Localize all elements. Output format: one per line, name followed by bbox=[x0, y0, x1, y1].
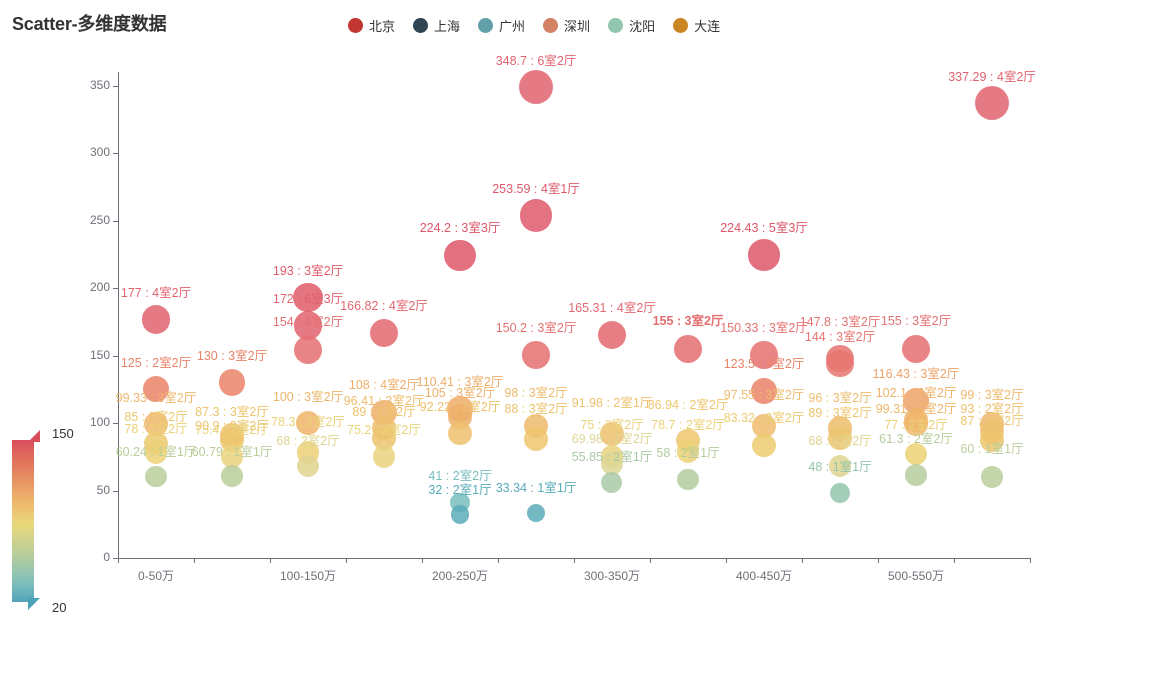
scatter-point[interactable] bbox=[601, 472, 622, 493]
x-axis-tick bbox=[1030, 558, 1031, 563]
y-axis-tick bbox=[113, 153, 118, 154]
scatter-point[interactable] bbox=[293, 283, 323, 313]
scatter-point-label: 130 : 3室2厅 bbox=[160, 345, 304, 364]
scatter-point[interactable] bbox=[980, 429, 1004, 453]
visual-map-max-label: 150 bbox=[52, 426, 74, 441]
visual-map[interactable]: 150 20 bbox=[12, 432, 82, 632]
scatter-point-label: 224.2 : 3室3厅 bbox=[388, 217, 532, 236]
scatter-point[interactable] bbox=[444, 240, 475, 271]
x-axis-label: 0-50万 bbox=[96, 567, 216, 584]
scatter-plot: 0501001502002503003500-50万100-150万200-25… bbox=[0, 0, 1159, 677]
x-axis-tick bbox=[194, 558, 195, 563]
y-axis-label: 150 bbox=[50, 348, 110, 362]
scatter-point-label: 337.29 : 4室2厅 bbox=[920, 66, 1064, 85]
scatter-point[interactable] bbox=[904, 412, 928, 436]
scatter-point[interactable] bbox=[219, 369, 245, 395]
scatter-point-label: 86.94 : 2室2厅 bbox=[616, 394, 760, 413]
scatter-point[interactable] bbox=[981, 466, 1002, 487]
x-axis-tick bbox=[650, 558, 651, 563]
scatter-point[interactable] bbox=[975, 86, 1009, 120]
scatter-point-label: 348.7 : 6室2厅 bbox=[464, 50, 608, 69]
scatter-point[interactable] bbox=[296, 411, 321, 436]
scatter-point[interactable] bbox=[829, 455, 851, 477]
scatter-point-label: 155 : 3室2厅 bbox=[844, 310, 988, 329]
scatter-point-label: 193 : 3室2厅 bbox=[236, 260, 380, 279]
scatter-point[interactable] bbox=[905, 464, 927, 486]
x-axis-label: 100-150万 bbox=[248, 567, 368, 584]
scatter-point-label: 33.34 : 1室1厅 bbox=[464, 477, 608, 496]
scatter-point-label: 96 : 3室2厅 bbox=[768, 387, 912, 406]
scatter-point-label: 110.41 : 3室2厅 bbox=[388, 371, 532, 390]
y-axis-label: 300 bbox=[50, 145, 110, 159]
scatter-point[interactable] bbox=[519, 70, 553, 104]
y-axis-tick bbox=[113, 86, 118, 87]
scatter-point[interactable] bbox=[905, 443, 928, 466]
scatter-point[interactable] bbox=[752, 434, 775, 457]
visual-map-max-handle-icon[interactable] bbox=[28, 430, 40, 442]
scatter-point-label: 116.43 : 3室2厅 bbox=[844, 363, 988, 382]
scatter-point-label: 41 : 2室2厅 bbox=[388, 465, 532, 484]
x-axis-tick bbox=[878, 558, 879, 563]
scatter-point[interactable] bbox=[524, 427, 548, 451]
y-axis-tick bbox=[113, 221, 118, 222]
y-axis-tick bbox=[113, 423, 118, 424]
scatter-point[interactable] bbox=[677, 440, 700, 463]
scatter-point-label: 224.43 : 5室3厅 bbox=[692, 217, 836, 236]
x-axis-tick bbox=[802, 558, 803, 563]
y-axis-tick bbox=[113, 288, 118, 289]
x-axis-tick bbox=[346, 558, 347, 563]
scatter-point-label: 155 : 3室2厅 bbox=[616, 310, 760, 329]
scatter-point-label: 91.98 : 2室1厅 bbox=[540, 392, 684, 411]
scatter-point-label: 98 : 3室2厅 bbox=[464, 382, 608, 401]
x-axis-tick bbox=[726, 558, 727, 563]
scatter-point[interactable] bbox=[751, 378, 777, 404]
scatter-point-label: 108 : 4室2厅 bbox=[312, 374, 456, 393]
scatter-point[interactable] bbox=[522, 341, 550, 369]
scatter-point[interactable] bbox=[527, 504, 546, 523]
x-axis-tick bbox=[498, 558, 499, 563]
y-axis-label: 250 bbox=[50, 213, 110, 227]
scatter-point[interactable] bbox=[674, 335, 702, 363]
scatter-point[interactable] bbox=[370, 319, 398, 347]
scatter-point[interactable] bbox=[826, 350, 853, 377]
scatter-point[interactable] bbox=[373, 445, 396, 468]
scatter-point-label: 253.59 : 4室1厅 bbox=[464, 178, 608, 197]
scatter-point-label: 150.33 : 3室2厅 bbox=[692, 317, 836, 336]
visual-map-min-label: 20 bbox=[52, 600, 66, 615]
scatter-point[interactable] bbox=[600, 422, 624, 446]
scatter-point[interactable] bbox=[297, 455, 319, 477]
scatter-point-label: 150.2 : 3室2厅 bbox=[464, 317, 608, 336]
y-axis-tick bbox=[113, 356, 118, 357]
scatter-point-label: 144 : 3室2厅 bbox=[768, 326, 912, 345]
scatter-point-label: 165.31 : 4室2厅 bbox=[540, 297, 684, 316]
y-axis-tick bbox=[113, 491, 118, 492]
scatter-point[interactable] bbox=[142, 305, 171, 334]
scatter-point[interactable] bbox=[294, 336, 322, 364]
scatter-point[interactable] bbox=[902, 335, 930, 363]
scatter-point-label: 100 : 3室2厅 bbox=[236, 386, 380, 405]
scatter-point[interactable] bbox=[830, 483, 850, 503]
x-axis-label: 300-350万 bbox=[552, 567, 672, 584]
scatter-point[interactable] bbox=[448, 422, 472, 446]
x-axis-tick bbox=[954, 558, 955, 563]
x-axis-label: 500-550万 bbox=[856, 567, 976, 584]
scatter-point[interactable] bbox=[451, 505, 470, 524]
scatter-point-label: 166.82 : 4室2厅 bbox=[312, 295, 456, 314]
scatter-point[interactable] bbox=[221, 465, 242, 486]
scatter-point[interactable] bbox=[145, 466, 166, 487]
x-axis-tick bbox=[574, 558, 575, 563]
scatter-point-label: 99 : 3室2厅 bbox=[920, 384, 1064, 403]
scatter-point[interactable] bbox=[143, 376, 169, 402]
scatter-point[interactable] bbox=[750, 341, 778, 369]
y-axis-label: 350 bbox=[50, 78, 110, 92]
scatter-point[interactable] bbox=[748, 239, 779, 270]
x-axis-tick bbox=[270, 558, 271, 563]
scatter-point-label: 147.8 : 3室2厅 bbox=[768, 311, 912, 330]
scatter-point[interactable] bbox=[145, 441, 168, 464]
scatter-point[interactable] bbox=[221, 445, 244, 468]
x-axis-tick bbox=[118, 558, 119, 563]
y-axis-line bbox=[118, 72, 119, 558]
x-axis-label: 200-250万 bbox=[400, 567, 520, 584]
visual-map-gradient-bar[interactable] bbox=[12, 440, 34, 602]
scatter-point[interactable] bbox=[677, 469, 698, 490]
chart-page: Scatter-多维度数据 北京上海广州深圳沈阳大连 0501001502002… bbox=[0, 0, 1159, 677]
x-axis-tick bbox=[422, 558, 423, 563]
y-axis-label: 200 bbox=[50, 280, 110, 294]
scatter-point-label: 87.3 : 3室2厅 bbox=[160, 401, 304, 420]
scatter-point[interactable] bbox=[598, 321, 626, 349]
visual-map-min-handle-icon[interactable] bbox=[28, 598, 40, 610]
scatter-point[interactable] bbox=[520, 199, 552, 231]
scatter-point[interactable] bbox=[828, 426, 852, 450]
x-axis-label: 400-450万 bbox=[704, 567, 824, 584]
